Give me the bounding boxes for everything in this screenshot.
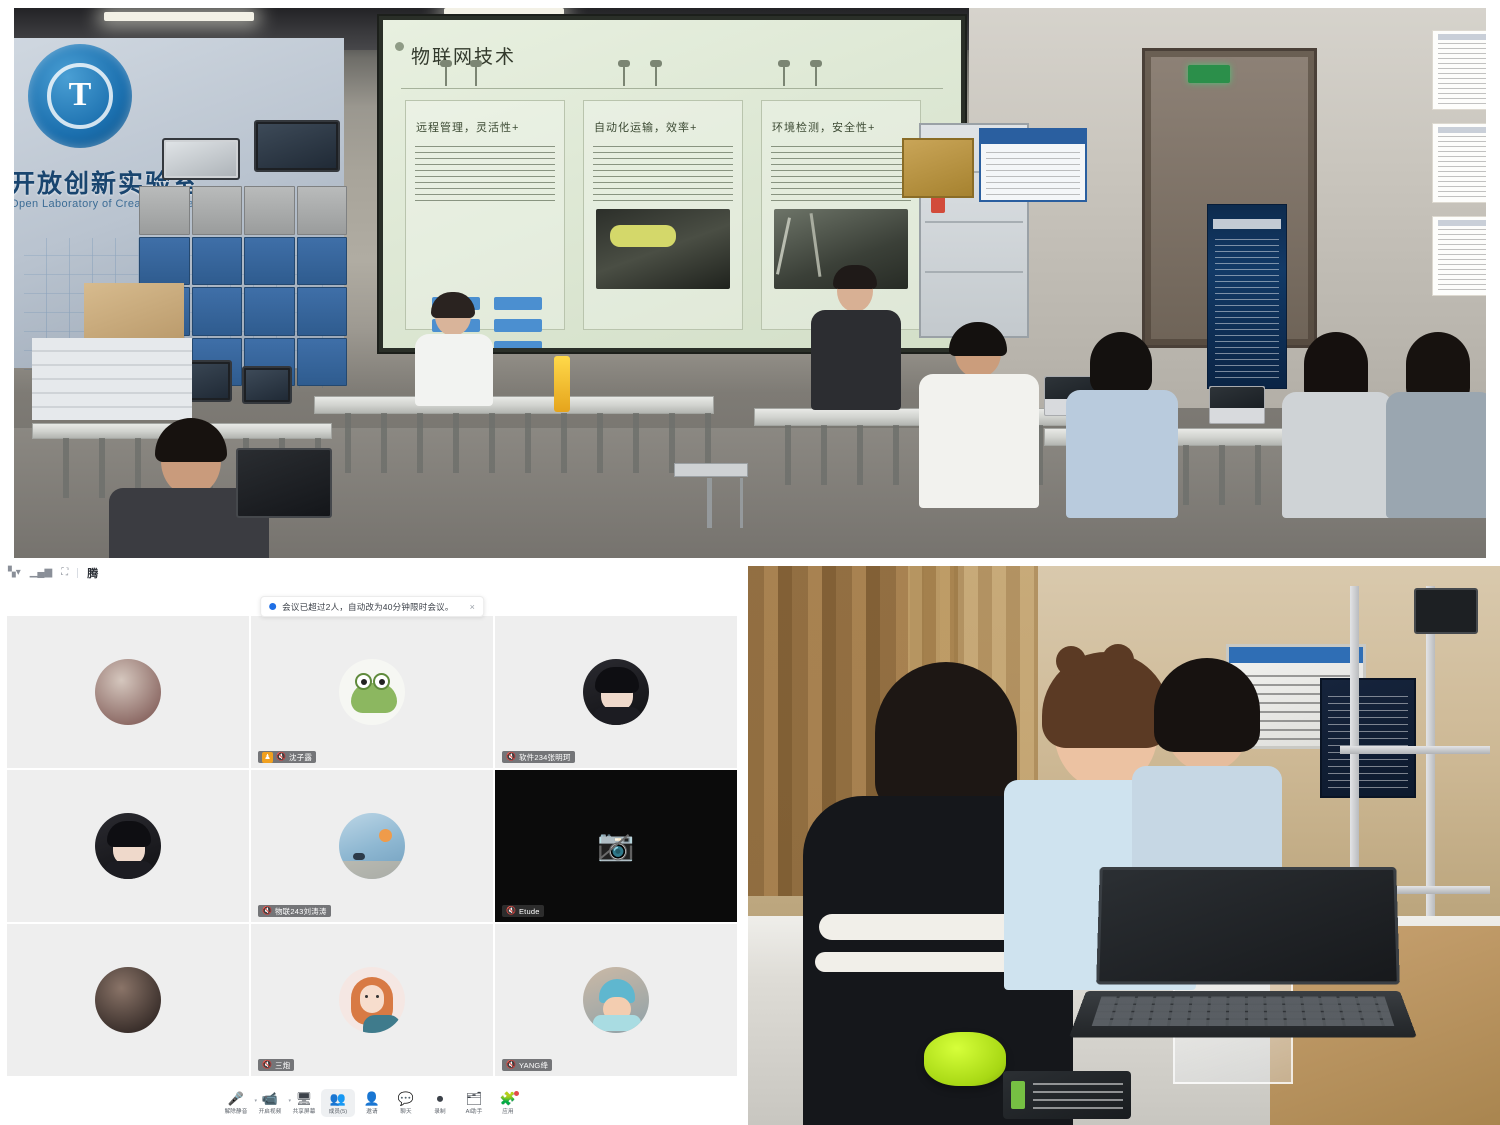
toolbar-button-label: 成员(5) [329, 1107, 348, 1115]
wireless-mouse [924, 1032, 1006, 1086]
wall-poster [1432, 30, 1486, 110]
stool [674, 463, 748, 477]
microphone-muted-icon: 🔇 [506, 907, 516, 915]
plastic-drawers [32, 338, 192, 420]
invite-person-icon: 👤 [364, 1092, 380, 1105]
chat-bubble-icon: 💬 [398, 1092, 414, 1105]
roll-up-banner [1207, 204, 1287, 389]
toolbar-button-ai[interactable]: 🗂AI助手 [457, 1089, 491, 1117]
avatar [95, 967, 161, 1033]
toolbar-button-label: 邀请 [366, 1107, 377, 1115]
participant-tile[interactable]: 🔇三炮 [251, 924, 493, 1076]
tablet-device [236, 448, 332, 518]
participant-tile[interactable]: 🔇YANG绛 [495, 924, 737, 1076]
toolbar-button-members[interactable]: 👥成员(5) [321, 1089, 355, 1117]
microphone-muted-icon: 🔇 [262, 907, 272, 915]
laptop [1078, 866, 1408, 1041]
participant-tile[interactable] [7, 770, 249, 922]
logo-icon: 腾 [87, 565, 98, 581]
microphone-muted-icon: 🔇 [506, 1061, 516, 1069]
toolbar-button-label: AI助手 [466, 1107, 483, 1115]
toolbar-button-record[interactable]: ⏺录制 [423, 1089, 457, 1117]
wall-information-board [979, 128, 1087, 202]
person-student-4 [1386, 338, 1486, 518]
network-icon[interactable]: ▚▾ [8, 568, 21, 578]
students-laptop-photo [748, 566, 1500, 1125]
ceiling-light [104, 12, 254, 21]
slide-col1-heading: 远程管理，灵活性+ [416, 119, 519, 135]
toolbar-button-invite[interactable]: 👤邀请 [355, 1089, 389, 1117]
rig-camera-icon [1414, 588, 1478, 634]
participant-tile[interactable]: ♟🔇沈子露 [251, 616, 493, 768]
classroom-photo: T 开放创新实验室 Open Laboratory of Creation of… [14, 8, 1486, 558]
toolbar-button-video[interactable]: 📹开启视频▾ [253, 1089, 287, 1117]
microphone-muted-icon: 🎤 [228, 1092, 244, 1105]
wall-panel [162, 138, 240, 180]
meeting-stage: 会议已超过2人，自动改为40分钟限时会议。 × ♟🔇沈子露🔇软件234张明珂🔇物… [0, 584, 744, 1081]
slide-bullet-icon [395, 42, 404, 51]
avatar [339, 813, 405, 879]
drink-bottle [554, 356, 570, 412]
toolbar-button-label: 聊天 [400, 1107, 411, 1115]
close-icon[interactable]: × [470, 602, 475, 612]
host-badge-icon: ♟ [262, 752, 273, 763]
participant-name: YANG绛 [519, 1060, 548, 1071]
slide-divider [401, 88, 943, 89]
participant-tile[interactable] [7, 616, 249, 768]
notification-badge [514, 1091, 519, 1096]
desk-monitor [242, 366, 292, 404]
exit-sign-icon [1188, 65, 1230, 83]
toolbar-button-label: 共享屏幕 [293, 1107, 316, 1115]
toolbar-button-label: 解除静音 [225, 1107, 248, 1115]
titlebar-divider [77, 568, 78, 578]
participants-icon: 👥 [330, 1092, 346, 1105]
meeting-toolbar: 🎤解除静音▾📹开启视频▾🖥共享屏幕▾👥成员(5)👤邀请💬聊天⏺录制🗂AI助手🧩应… [0, 1081, 744, 1125]
toolbar-button-label: 应用 [502, 1107, 513, 1115]
fullscreen-icon[interactable]: ⛶ [61, 568, 68, 578]
slide-col3-heading: 环境检测，安全性+ [772, 119, 875, 135]
table-center [314, 396, 714, 414]
avatar [95, 659, 161, 725]
participant-name: 软件234张明珂 [519, 752, 571, 763]
microphone-muted-icon: 🔇 [262, 1061, 272, 1069]
participant-name-tag: 🔇三炮 [258, 1059, 294, 1071]
participant-name: 沈子露 [289, 752, 312, 763]
participant-name-tag: 🔇软件234张明珂 [502, 751, 575, 763]
participant-tile[interactable]: 🔇软件234张明珂 [495, 616, 737, 768]
slide-title: 物联网技术 [411, 42, 516, 69]
photo-collage: T 开放创新实验室 Open Laboratory of Creation of… [0, 0, 1500, 1125]
wall-monitor [254, 120, 340, 172]
window-titlebar: ▚▾ ▁▄▆ ⛶ 腾 [0, 562, 744, 584]
avatar [95, 813, 161, 879]
wall-poster [1432, 123, 1486, 203]
camera-muted-icon: 📹 [262, 1092, 278, 1105]
tencent-meeting-window[interactable]: ▚▾ ▁▄▆ ⛶ 腾 会议已超过2人，自动改为40分钟限时会议。 × ♟🔇沈子露… [0, 562, 744, 1125]
toolbar-button-chat[interactable]: 💬聊天 [389, 1089, 423, 1117]
avatar [583, 659, 649, 725]
screen-share-icon: 🖥 [296, 1092, 313, 1105]
ai-assistant-icon: 🗂 [466, 1092, 483, 1105]
award-plaque [902, 138, 974, 198]
person-presenter-left [409, 296, 499, 406]
electronics-module [1003, 1071, 1131, 1119]
lab-logo-icon: T [28, 44, 132, 148]
desk-laptop [1209, 386, 1265, 424]
participant-name-tag: 🔇物联243刘涛涛 [258, 905, 331, 917]
avatar [339, 659, 405, 725]
cardboard-box [84, 283, 184, 345]
participant-name: 物联243刘涛涛 [275, 906, 327, 917]
microphone-muted-icon: 🔇 [276, 753, 286, 761]
person-student-2 [1066, 338, 1178, 518]
banner-message: 会议已超过2人，自动改为40分钟限时会议。 [282, 601, 453, 613]
wall-poster [1432, 216, 1486, 296]
participant-tile[interactable]: 🔇物联243刘涛涛 [251, 770, 493, 922]
participant-name-tag: ♟🔇沈子露 [258, 751, 316, 763]
person-student-3 [1282, 338, 1392, 518]
toolbar-button-share[interactable]: 🖥共享屏幕▾ [287, 1089, 321, 1117]
person-presenter-right [809, 270, 903, 410]
participant-name-tag: 🔇Etude [502, 905, 544, 917]
slide-col2-heading: 自动化运输，效率+ [594, 119, 697, 135]
avatar [339, 967, 405, 1033]
toolbar-button-label: 录制 [434, 1107, 445, 1115]
microphone-muted-icon: 🔇 [506, 753, 516, 761]
slide-column-2: 自动化运输，效率+ [583, 100, 743, 330]
info-dot-icon [269, 603, 276, 610]
toolbar-button-mic[interactable]: 🎤解除静音▾ [219, 1089, 253, 1117]
slide-col2-photo [596, 209, 730, 289]
participant-grid: ♟🔇沈子露🔇软件234张明珂🔇物联243刘涛涛📷🔇Etude🔇三炮🔇YANG绛 [7, 616, 737, 1076]
participant-name: 三炮 [275, 1060, 290, 1071]
participant-name-tag: 🔇YANG绛 [502, 1059, 552, 1071]
participant-tile[interactable]: 📷🔇Etude [495, 770, 737, 922]
toolbar-button-apps[interactable]: 🧩应用 [491, 1089, 525, 1117]
participant-name: Etude [519, 907, 540, 916]
toolbar-button-label: 开启视频 [259, 1107, 282, 1115]
record-circle-icon: ⏺ [437, 1092, 444, 1105]
signal-icon[interactable]: ▁▄▆ [30, 568, 52, 578]
participant-tile[interactable] [7, 924, 249, 1076]
camera-off-icon: 📷 [597, 831, 634, 861]
person-student-1 [919, 328, 1039, 508]
meeting-limit-banner: 会议已超过2人，自动改为40分钟限时会议。 × [260, 596, 484, 617]
avatar [583, 967, 649, 1033]
